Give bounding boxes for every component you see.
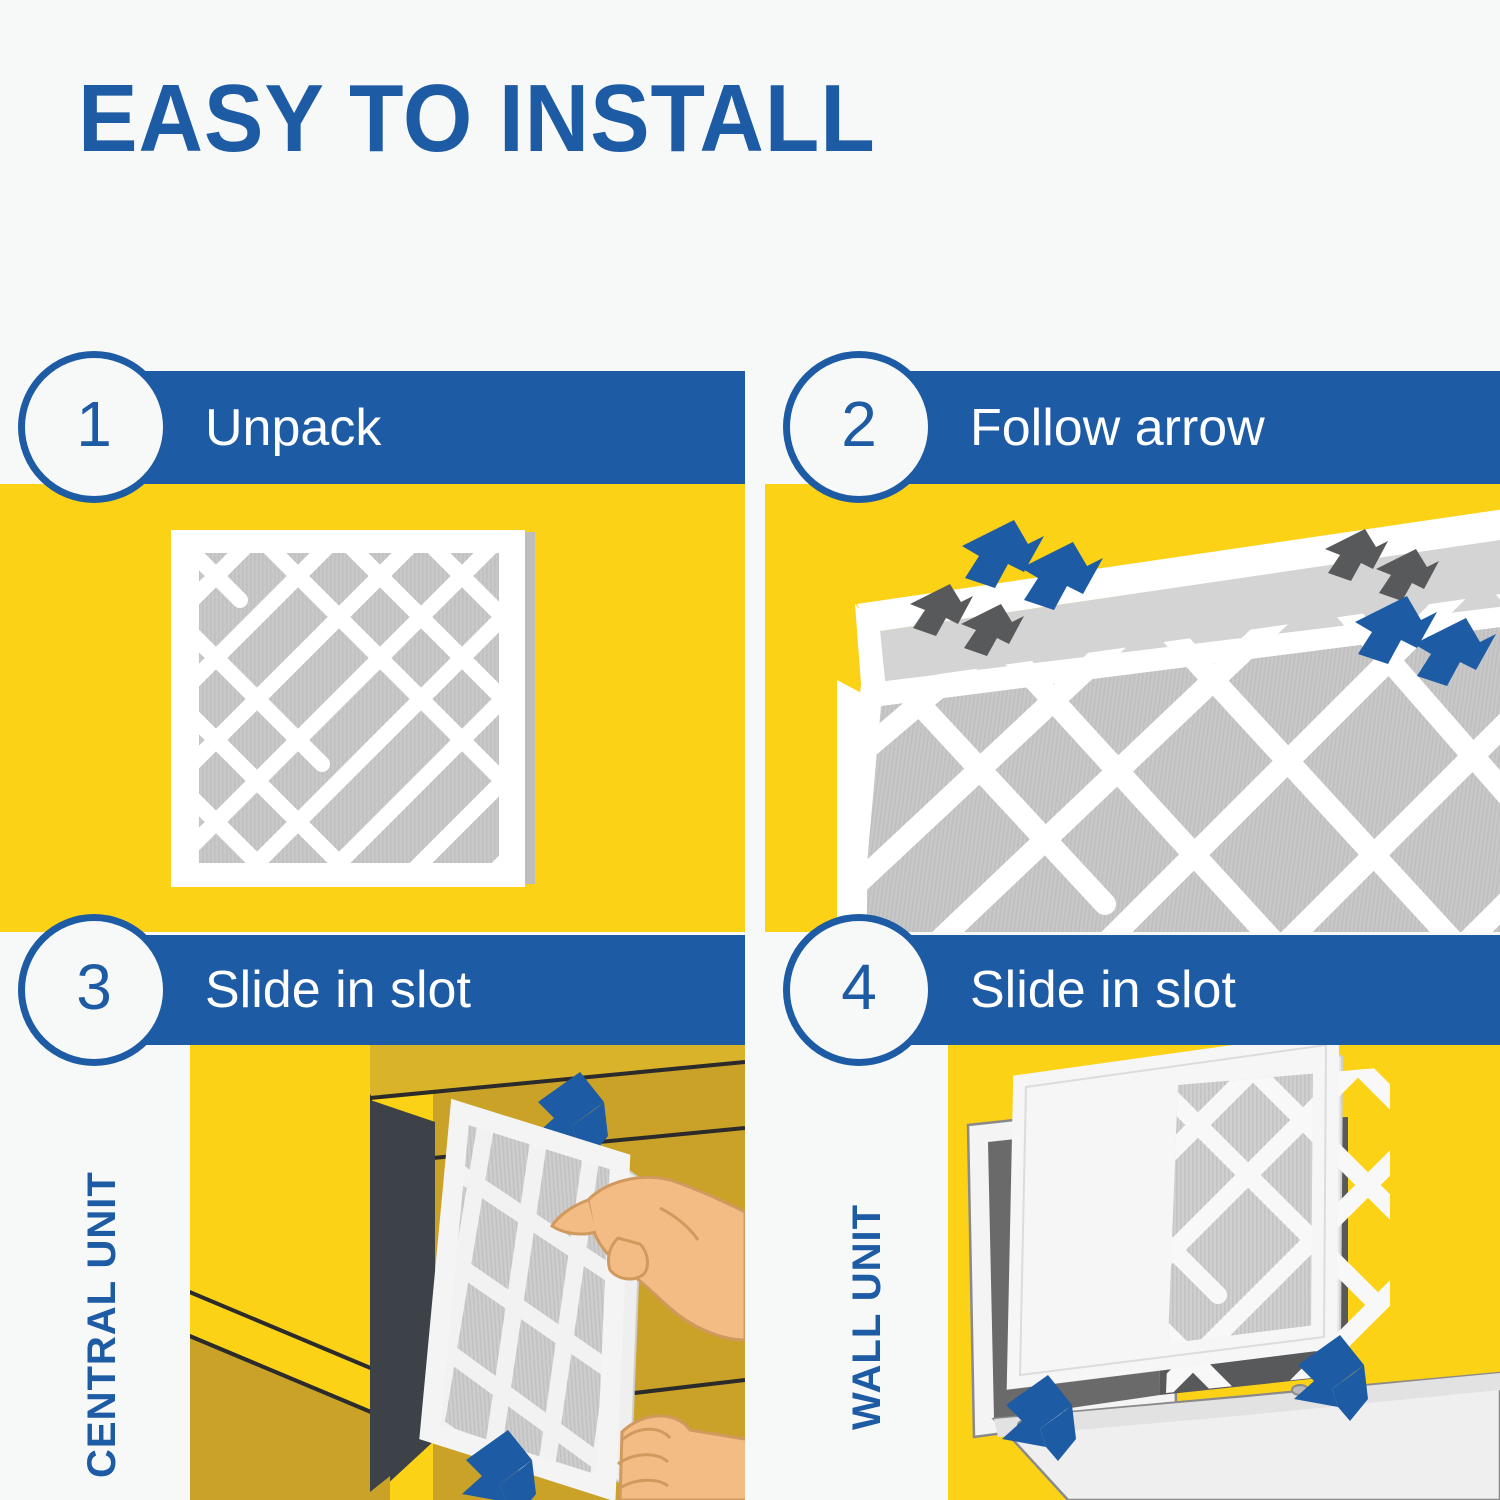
step-1-header[interactable]: Unpack: [110, 371, 745, 484]
step-4-label: Slide in slot: [970, 964, 1236, 1016]
step-3-header[interactable]: Slide in slot: [110, 935, 745, 1045]
step-1-label: Unpack: [205, 402, 381, 454]
step-2-number: 2: [841, 392, 877, 456]
step-3-side-label: CENTRAL UNIT: [80, 1171, 125, 1478]
step-4-header[interactable]: Slide in slot: [875, 935, 1500, 1045]
step-2-illustration: [765, 484, 1500, 932]
step-1-illustration: [170, 530, 550, 890]
step-1-number-badge[interactable]: 1: [18, 351, 170, 503]
step-4-illustration: [948, 1045, 1500, 1500]
step-2-number-badge[interactable]: 2: [783, 351, 935, 503]
step-4-side-label: WALL UNIT: [845, 1204, 890, 1430]
step-3-number-badge[interactable]: 3: [18, 914, 170, 1066]
step-3-label: Slide in slot: [205, 964, 471, 1016]
step-4-number: 4: [841, 955, 877, 1019]
step-4-number-badge[interactable]: 4: [783, 914, 935, 1066]
page-title: EASY TO INSTALL: [78, 64, 876, 174]
infographic-canvas: EASY TO INSTALL: [0, 0, 1500, 1500]
step-1-number: 1: [76, 392, 112, 456]
step-3-number: 3: [76, 955, 112, 1019]
step-2-header[interactable]: Follow arrow: [875, 371, 1500, 484]
step-2-label: Follow arrow: [970, 402, 1265, 454]
step-3-illustration: [190, 1040, 745, 1500]
